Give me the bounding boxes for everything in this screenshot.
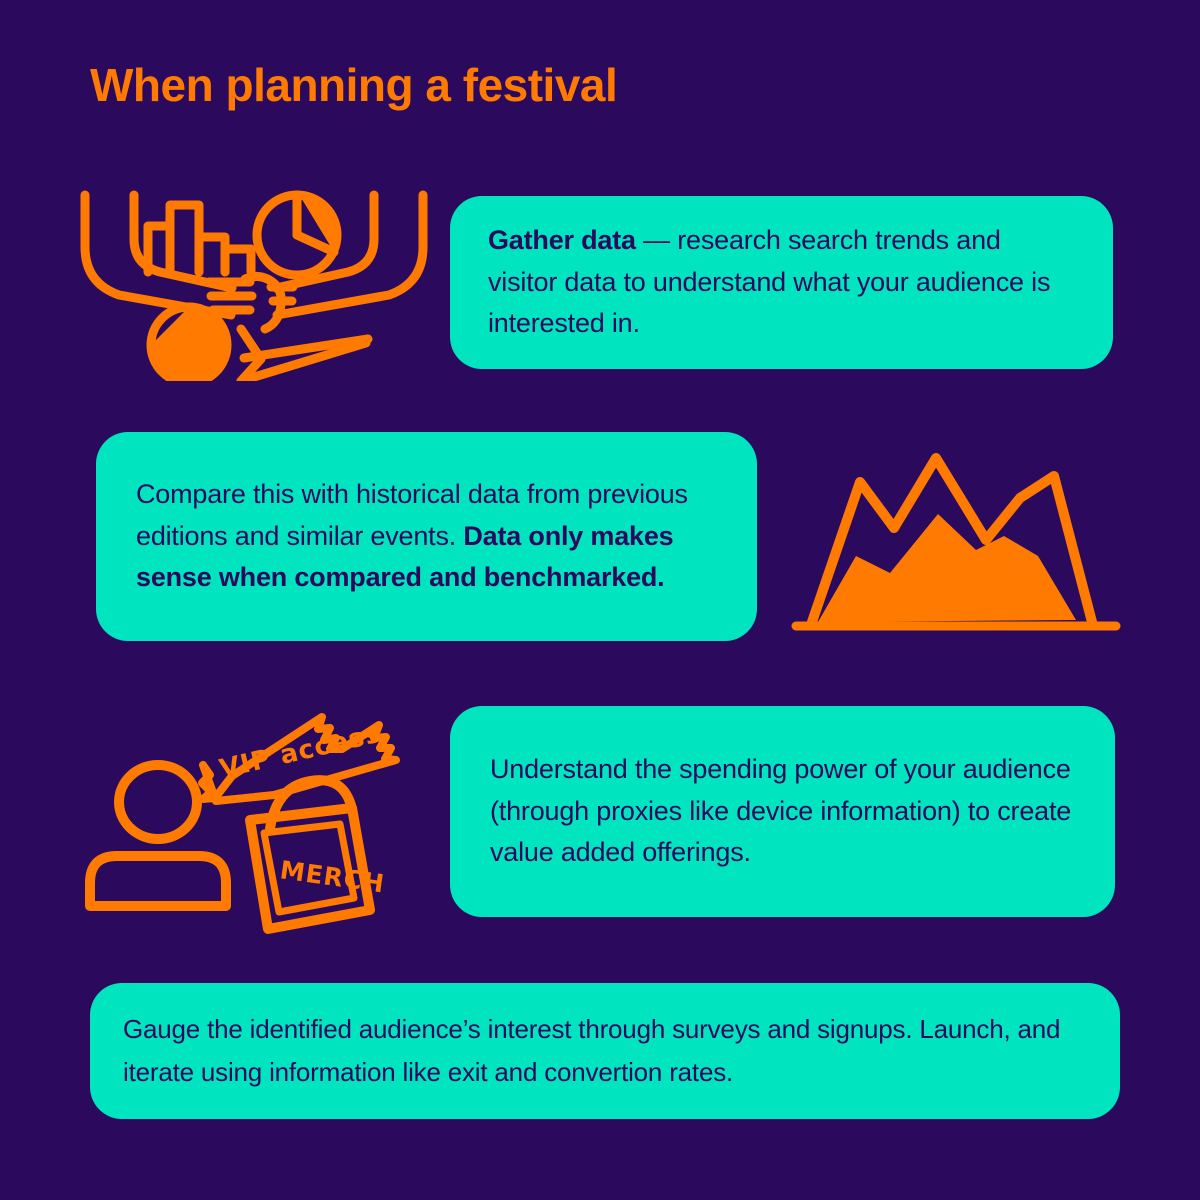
merch-label: MERCH <box>278 855 386 898</box>
card-gather-data: Gather data — research search trends and… <box>450 196 1113 369</box>
card-spending-power: Understand the spending power of your au… <box>450 706 1115 917</box>
card-spending-power-text: Understand the spending power of your au… <box>490 749 1075 875</box>
infographic-canvas: When planning a festival <box>0 0 1200 1200</box>
card-gather-data-lead: Gather data <box>488 225 636 255</box>
mountain-area-chart-icon <box>790 440 1122 640</box>
card-gauge-launch-iterate: Gauge the identified audience’s interest… <box>90 983 1120 1119</box>
card-compare-historical-text: Compare this with historical data from p… <box>136 474 717 600</box>
page-title: When planning a festival <box>90 60 617 111</box>
hands-holding-charts-icon <box>78 183 430 381</box>
card-compare-historical: Compare this with historical data from p… <box>96 432 757 641</box>
audience-vip-merch-icon: VIP access MERCH <box>74 698 410 950</box>
card-gather-data-text: Gather data — research search trends and… <box>488 220 1073 346</box>
card-gauge-launch-iterate-text: Gauge the identified audience’s interest… <box>123 1008 1080 1094</box>
